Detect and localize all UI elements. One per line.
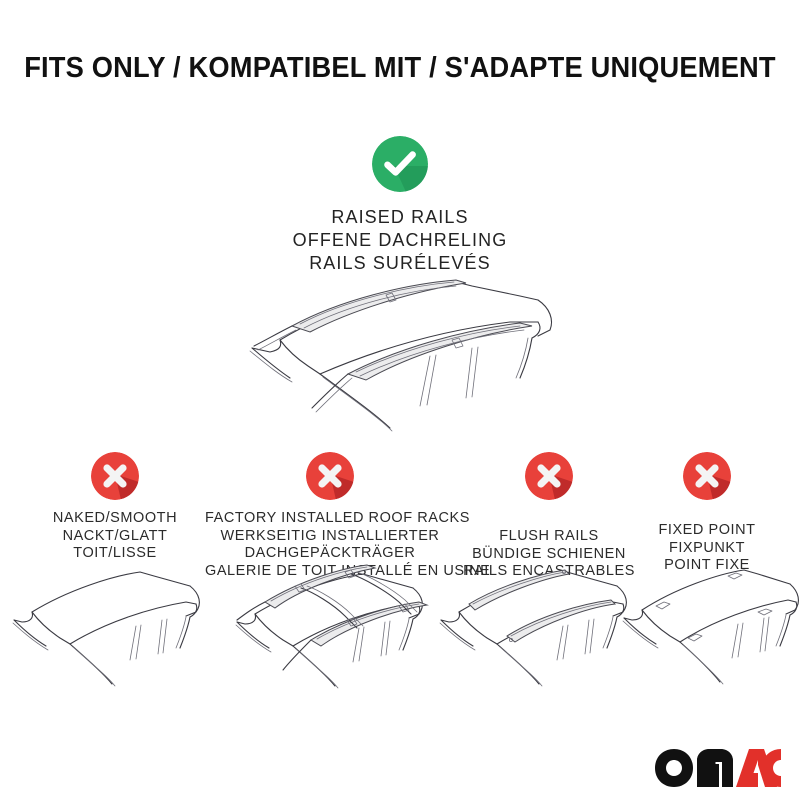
cross-circle-icon <box>306 452 354 500</box>
cross-circle-icon <box>91 452 139 500</box>
caption-line-de-1: WERKSEITIG INSTALLIERTER <box>205 528 455 546</box>
caption-line-de: FIXPUNKT <box>630 540 784 558</box>
compatible-section: RAISED RAILS OFFENE DACHRELING RAILS SUR… <box>0 136 800 275</box>
caption-line-fr: TOIT/LISSE <box>17 545 213 563</box>
caption-line-en: FLUSH RAILS <box>450 528 648 546</box>
page-title: FITS ONLY / KOMPATIBEL MIT / S'ADAPTE UN… <box>24 52 776 85</box>
car-roof-with-raised-rails-illustration <box>220 278 600 448</box>
car-roof-flush-rails-illustration <box>435 564 635 699</box>
incompatible-caption: NAKED/SMOOTH NACKT/GLATT TOIT/LISSE <box>17 510 213 563</box>
incompatible-item-fixed-point: FIXED POINT FIXPUNKT POINT FIXE <box>630 452 784 575</box>
incompatible-item-naked-smooth: NAKED/SMOOTH NACKT/GLATT TOIT/LISSE <box>17 452 213 563</box>
compatible-line-en: RAISED RAILS <box>0 206 800 229</box>
compatible-line-fr: RAILS SURÉLEVÉS <box>0 252 800 275</box>
car-roof-naked-smooth-illustration <box>8 564 208 699</box>
cross-circle-icon <box>525 452 573 500</box>
caption-line-de: NACKT/GLATT <box>17 528 213 546</box>
caption-line-de: BÜNDIGE SCHIENEN <box>450 546 648 564</box>
omac-logo <box>654 748 782 788</box>
cross-circle-icon <box>683 452 731 500</box>
check-circle-icon <box>372 136 428 192</box>
car-roof-fixed-point-illustration <box>618 562 800 697</box>
car-roof-factory-roof-racks-illustration <box>225 558 435 699</box>
compatible-line-de: OFFENE DACHRELING <box>0 229 800 252</box>
caption-line-en: FIXED POINT <box>630 522 784 540</box>
caption-line-en: NAKED/SMOOTH <box>17 510 213 528</box>
compatible-caption: RAISED RAILS OFFENE DACHRELING RAILS SUR… <box>0 206 800 275</box>
caption-line-en: FACTORY INSTALLED ROOF RACKS <box>205 510 455 528</box>
